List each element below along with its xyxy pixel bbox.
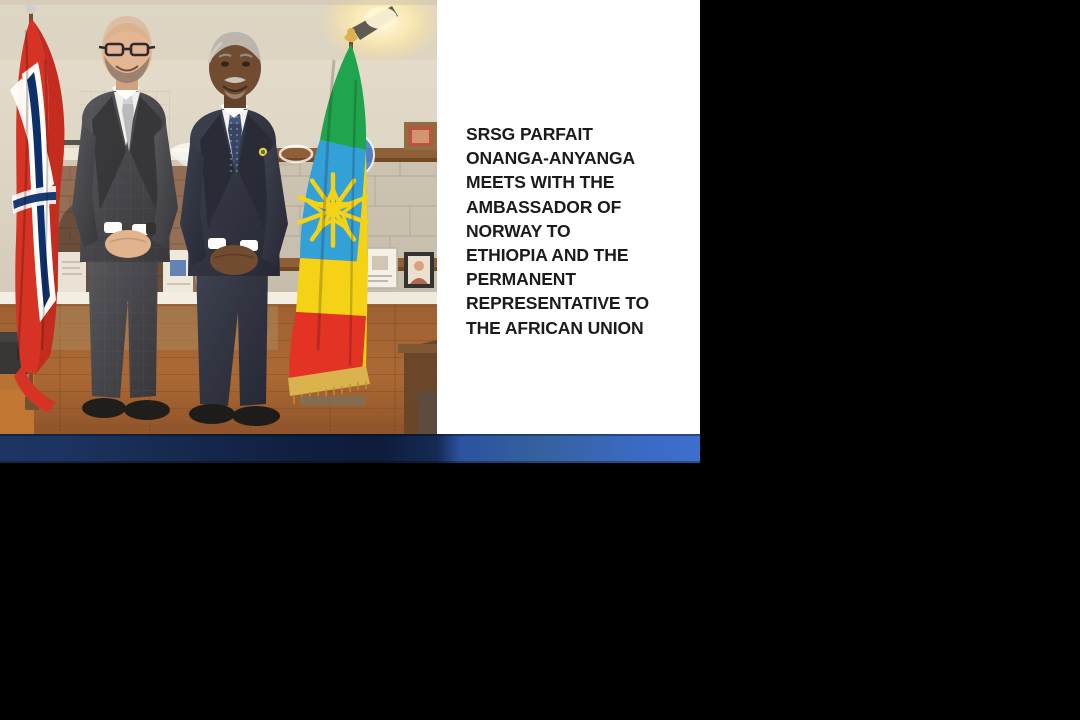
announcement-card: SRSG PARFAIT ONANGA-ANYANGA MEETS WITH T… <box>0 0 700 463</box>
band-bottom-edge <box>0 461 700 463</box>
band-top-edge <box>0 434 700 436</box>
headline-text: SRSG PARFAIT ONANGA-ANYANGA MEETS WITH T… <box>466 122 688 340</box>
photo-illustration <box>0 0 437 434</box>
meeting-photograph <box>0 0 437 434</box>
brand-footer-band <box>0 434 700 463</box>
screenshot-canvas: SRSG PARFAIT ONANGA-ANYANGA MEETS WITH T… <box>0 0 1080 720</box>
